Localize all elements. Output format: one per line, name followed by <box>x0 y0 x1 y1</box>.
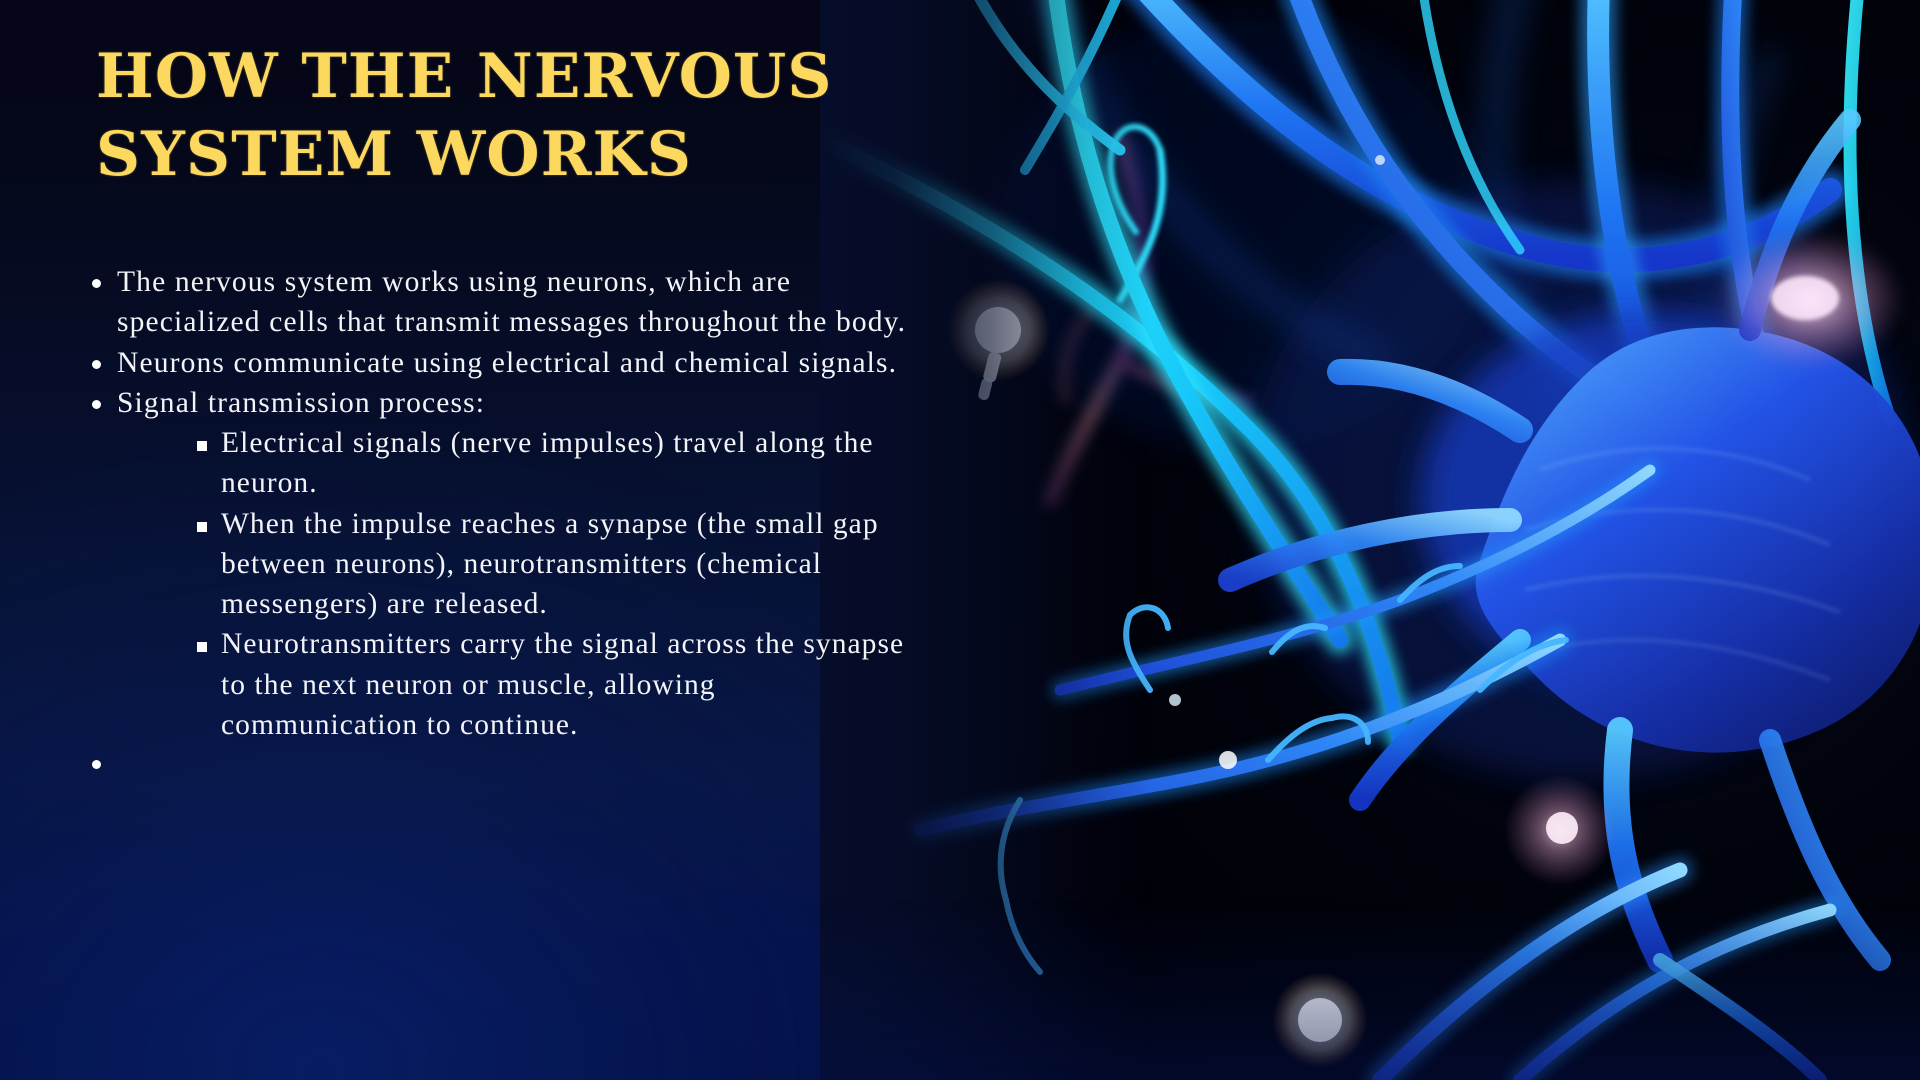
bullet-item: Neurons communicate using electrical and… <box>80 343 917 383</box>
slide-title-line-1: HOW THE NERVOUS <box>96 38 916 116</box>
slide-body: The nervous system works using neurons, … <box>80 262 1110 785</box>
sub-bullet-item: When the impulse reaches a synapse (the … <box>189 504 917 625</box>
slide-title: HOW THE NERVOUS SYSTEM WORKS <box>96 38 916 194</box>
bullet-item-empty <box>80 745 917 785</box>
bullet-item: The nervous system works using neurons, … <box>80 262 917 343</box>
slide-title-line-2: SYSTEM WORKS <box>96 116 916 194</box>
bullet-text: Signal transmission process: <box>117 387 485 419</box>
sub-bullet-text: Neurotransmitters carry the signal acros… <box>221 628 904 741</box>
slide-content: HOW THE NERVOUS SYSTEM WORKS The nervous… <box>0 0 1000 1080</box>
bullet-list: The nervous system works using neurons, … <box>80 262 1110 785</box>
bullet-text: Neurons communicate using electrical and… <box>117 347 897 379</box>
sub-bullet-item: Neurotransmitters carry the signal acros… <box>189 624 917 745</box>
sub-bullet-list: Electrical signals (nerve impulses) trav… <box>117 423 917 745</box>
bullet-item: Signal transmission process: Electrical … <box>80 383 917 745</box>
bullet-text: The nervous system works using neurons, … <box>117 266 906 338</box>
sub-bullet-text: Electrical signals (nerve impulses) trav… <box>221 427 874 499</box>
sub-bullet-text: When the impulse reaches a synapse (the … <box>221 508 879 621</box>
sub-bullet-item: Electrical signals (nerve impulses) trav… <box>189 423 917 504</box>
slide-root: HOW THE NERVOUS SYSTEM WORKS The nervous… <box>0 0 1920 1080</box>
